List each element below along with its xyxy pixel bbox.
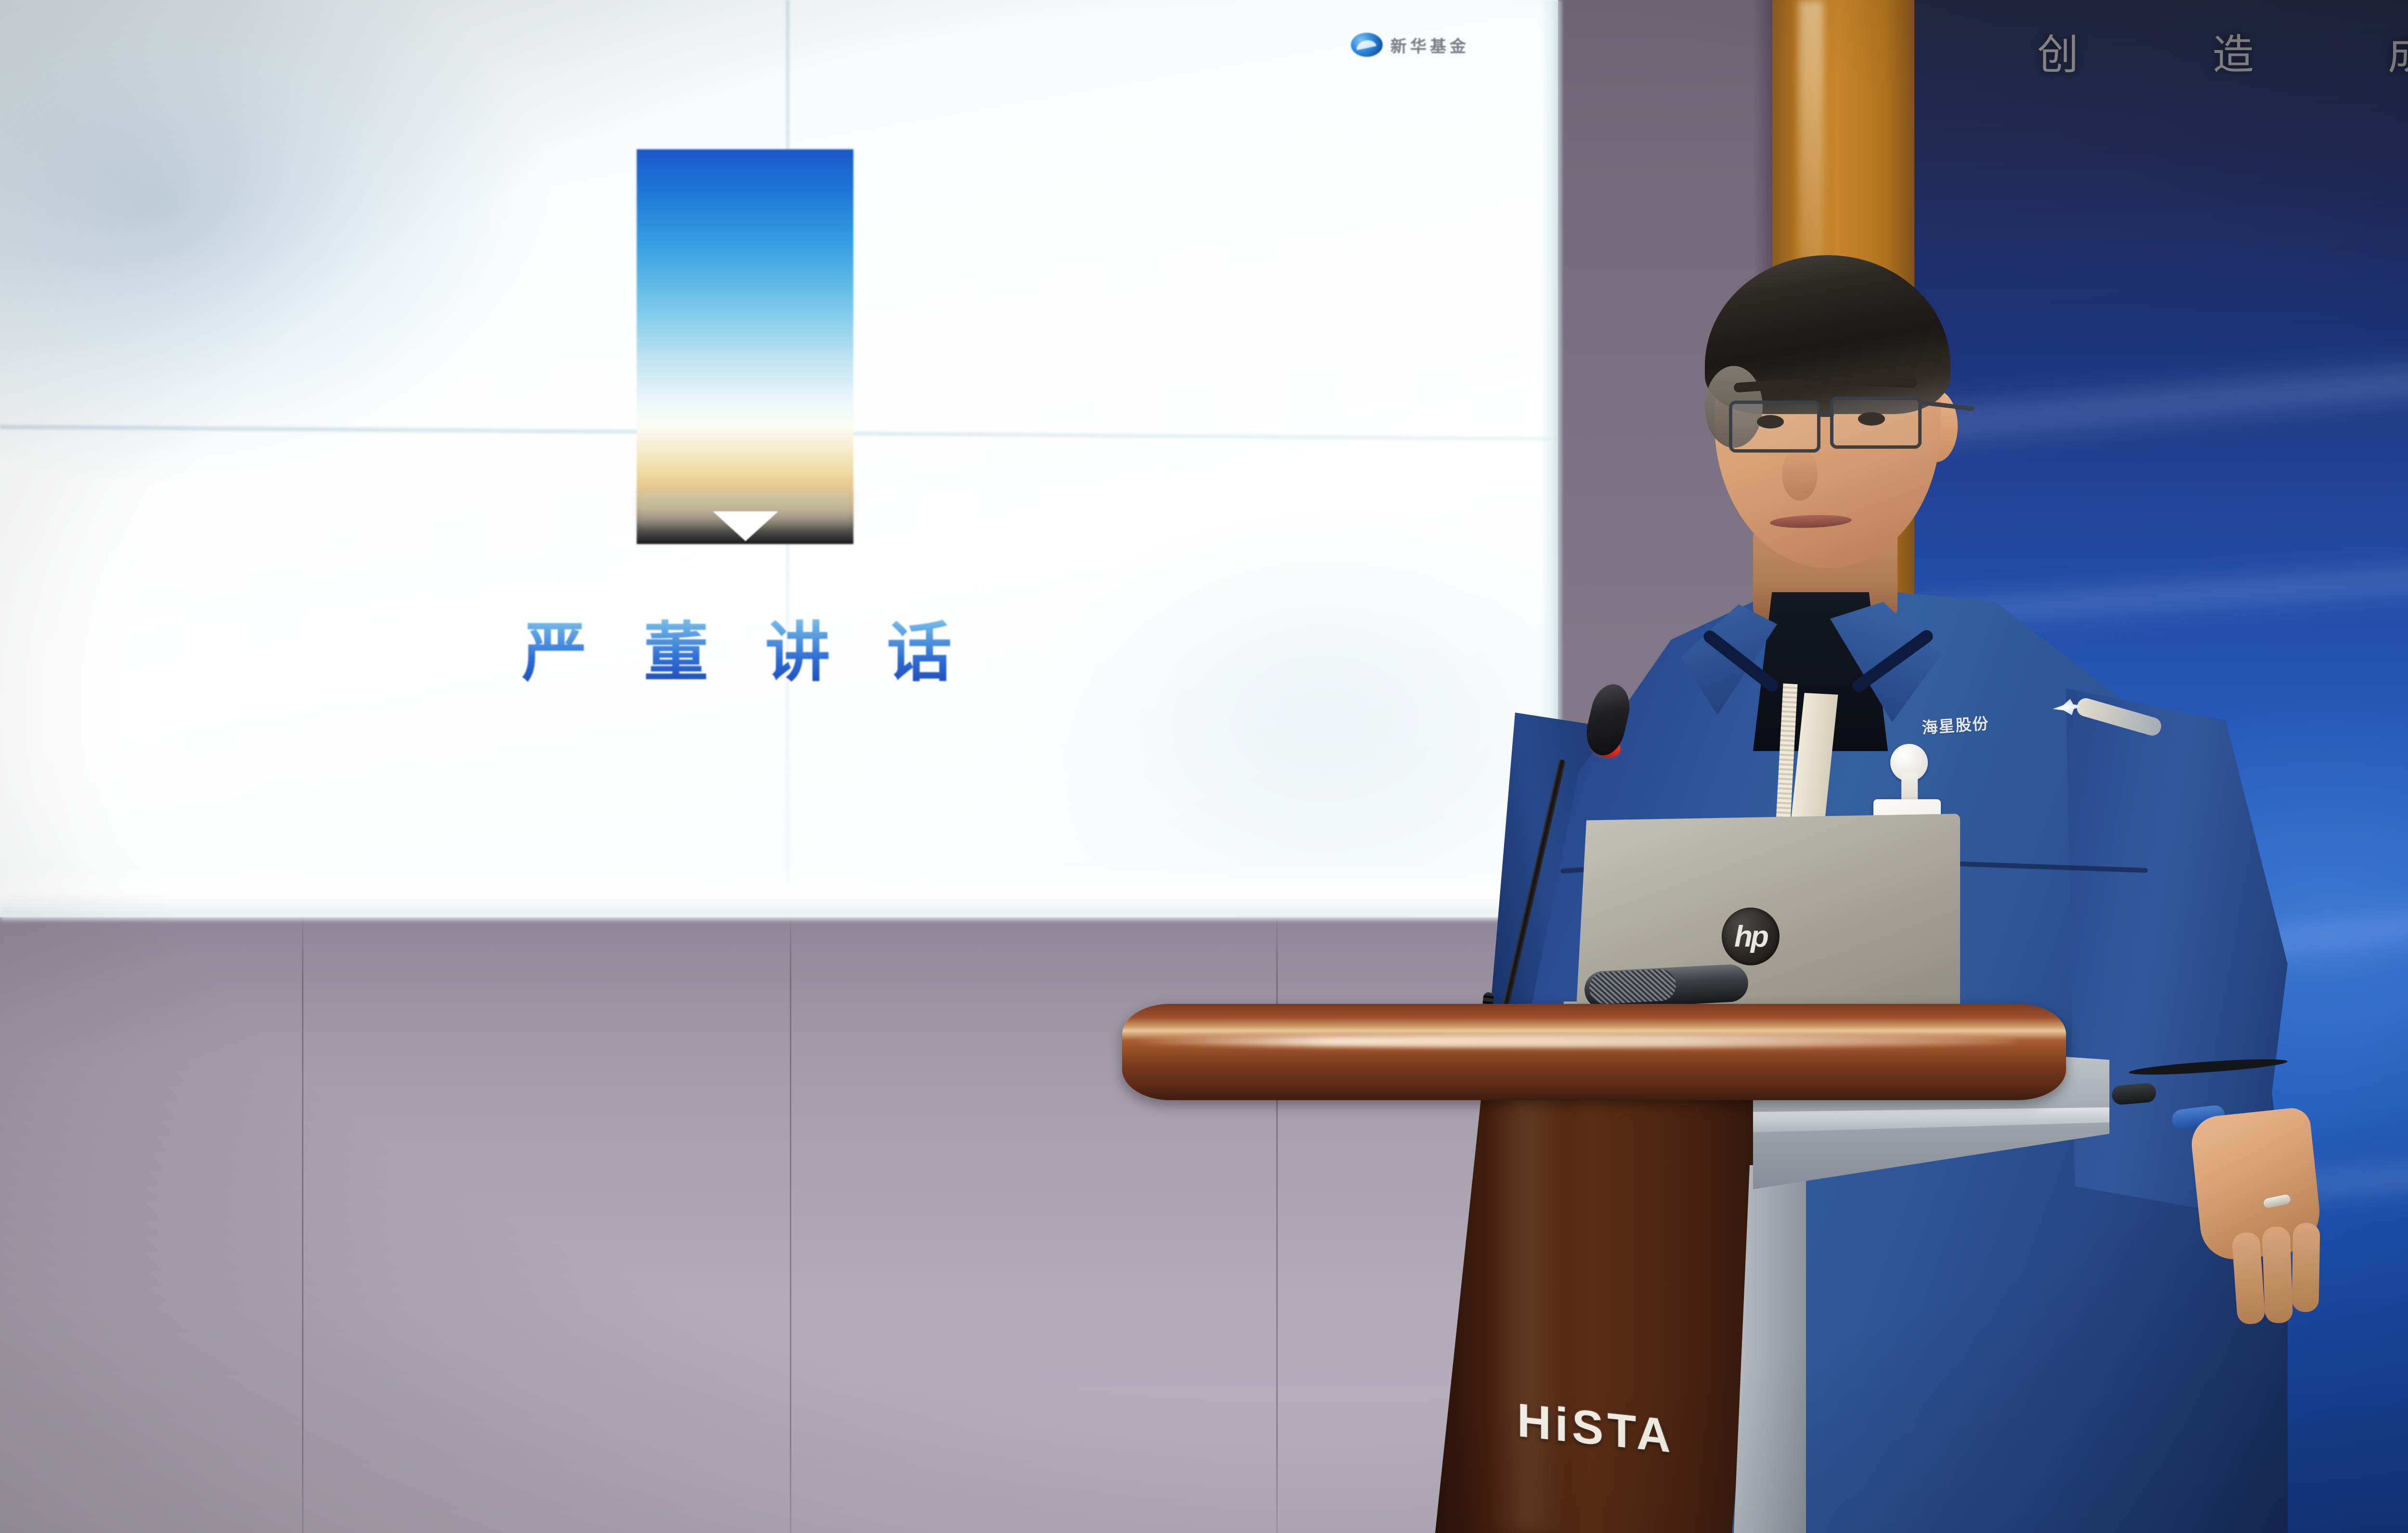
slide-image	[637, 149, 853, 544]
handheld-microphone-grille	[1588, 968, 1676, 1004]
glasses-lens-right-icon	[1830, 397, 1922, 449]
wall-seam	[302, 905, 303, 1533]
backdrop-char-1: 创	[2037, 21, 2080, 81]
wall-seam	[790, 905, 791, 1533]
podium-column-gloss	[1488, 1086, 1565, 1533]
backdrop-char-2: 造	[2212, 21, 2255, 81]
slide-logo: 新华基金	[1351, 33, 1469, 57]
glasses-lens-left-icon	[1729, 401, 1820, 453]
slide-logo-text: 新华基金	[1390, 33, 1469, 57]
screen-bottom-edge	[0, 862, 1558, 920]
hp-logo-icon: hp	[1722, 908, 1780, 965]
speaker-finger	[2262, 1226, 2293, 1324]
down-triangle-icon	[713, 511, 778, 541]
speaker-finger	[2291, 1223, 2320, 1312]
glasses-bridge-icon	[1819, 413, 1834, 417]
photo-canvas: 创 造 成 就 新华基金 严 董 讲 话 海星股份	[0, 0, 2408, 1533]
slide-title: 严 董 讲 话	[458, 599, 1035, 694]
podium-top-rail	[1122, 1004, 2066, 1100]
blue-swirl-logo-icon	[1351, 33, 1383, 57]
wall-seam	[1276, 905, 1278, 1533]
backdrop-char-3: 成	[2388, 21, 2408, 81]
podium-top-highlight	[1137, 1035, 2018, 1048]
speaker-nose	[1782, 448, 1818, 501]
backdrop-slogan: 创 造 成 就	[2037, 19, 2408, 82]
